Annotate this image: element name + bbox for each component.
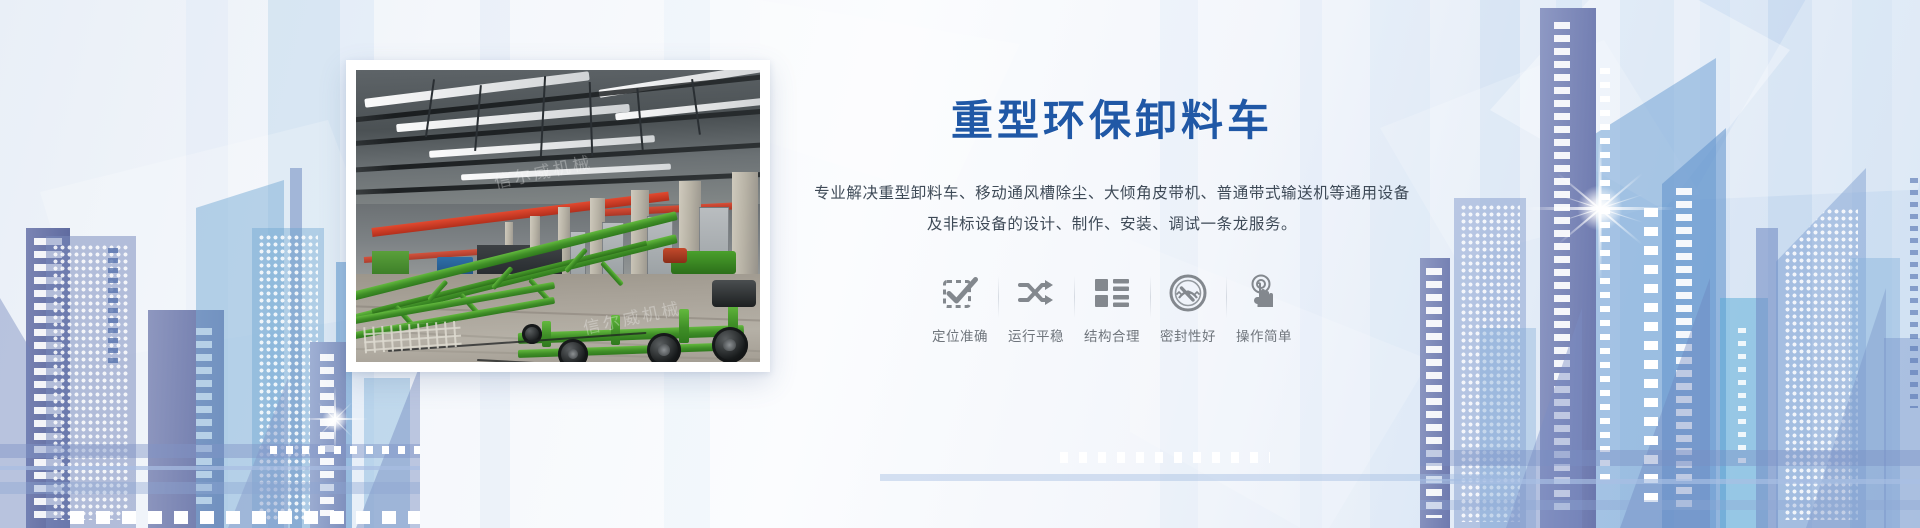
- product-hero-banner: 信尔威机械 信尔威机械 重型环保卸料车 专业解决重型卸料车、移动通风槽除尘、大倾…: [0, 0, 1920, 528]
- product-photo-card: 信尔威机械 信尔威机械: [346, 60, 770, 372]
- feature-item-positioning[interactable]: 定位准确: [922, 270, 998, 345]
- banner-description: 专业解决重型卸料车、移动通风槽除尘、大倾角皮带机、普通带式输送机等通用设备及非标…: [812, 178, 1412, 240]
- hand-tap-icon: [1241, 270, 1287, 316]
- feature-item-sealing[interactable]: 密封性好: [1150, 270, 1226, 345]
- factory-photo: 信尔威机械 信尔威机械: [356, 70, 760, 362]
- shuffle-arrows-icon: [1013, 270, 1059, 316]
- feature-list: 定位准确 运行平稳: [812, 270, 1412, 345]
- feature-label: 密封性好: [1160, 325, 1216, 345]
- feature-item-smooth-operation[interactable]: 运行平稳: [998, 270, 1074, 345]
- page-title: 重型环保卸料车: [812, 96, 1412, 146]
- seal-gauge-icon: [1165, 270, 1211, 316]
- banner-text-column: 重型环保卸料车 专业解决重型卸料车、移动通风槽除尘、大倾角皮带机、普通带式输送机…: [812, 96, 1412, 345]
- feature-label: 运行平稳: [1008, 325, 1064, 345]
- feature-label: 定位准确: [932, 325, 988, 345]
- background-dot-strip: [1060, 452, 1270, 463]
- background-city-right: [1420, 0, 1920, 528]
- feature-item-easy-operation[interactable]: 操作简单: [1226, 270, 1302, 345]
- feature-label: 结构合理: [1084, 325, 1140, 345]
- layout-blocks-icon: [1089, 270, 1135, 316]
- background-accent-bar: [880, 474, 1500, 481]
- checkbox-check-icon: [937, 270, 983, 316]
- feature-item-structure[interactable]: 结构合理: [1074, 270, 1150, 345]
- feature-label: 操作简单: [1236, 325, 1292, 345]
